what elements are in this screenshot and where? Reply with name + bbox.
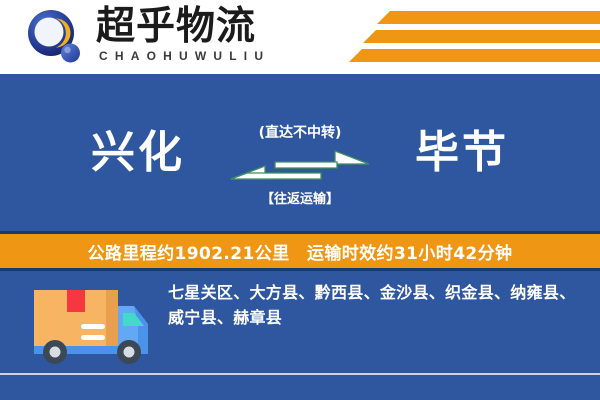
route-note-roundtrip: 【往返运输】 (228, 188, 372, 207)
route-note-direct: (直达不中转) (228, 122, 372, 142)
logistics-route-banner: 超乎物流 CHAOHUWULIU 兴化 (直达不中转) (0, 0, 600, 400)
double-arrow-icon (229, 148, 371, 182)
banner-header: 超乎物流 CHAOHUWULIU (0, 0, 600, 74)
header-stripe-3 (362, 49, 600, 62)
distance-duration-bar: 公路里程约1902.21公里 运输时效约31小时42分钟 (0, 234, 600, 268)
header-stripe-2 (376, 30, 600, 43)
destination-city: 毕节 (372, 126, 552, 180)
header-stripe-1 (390, 11, 600, 24)
route-row: 兴化 (直达不中转) 【往返运输】 毕节 (0, 108, 600, 228)
coverage-areas-text: 七星关区、大方县、黔西县、金沙县、织金县、纳雍县、威宁县、赫章县 (168, 280, 580, 330)
distance-duration-text: 公路里程约1902.21公里 运输时效约31小时42分钟 (88, 239, 513, 264)
footer-divider (0, 373, 600, 375)
circle-crescent-logo-icon (26, 9, 84, 67)
delivery-truck-icon (24, 280, 154, 368)
banner-body: 兴化 (直达不中转) 【往返运输】 毕节 (0, 74, 600, 400)
info-bar-rule-bottom (0, 268, 600, 271)
brand-name-en: CHAOHUWULIU (99, 49, 270, 63)
origin-city: 兴化 (48, 126, 228, 180)
route-middle-group: (直达不中转) 【往返运输】 (228, 108, 372, 228)
brand-name-cn: 超乎物流 (96, 4, 256, 49)
